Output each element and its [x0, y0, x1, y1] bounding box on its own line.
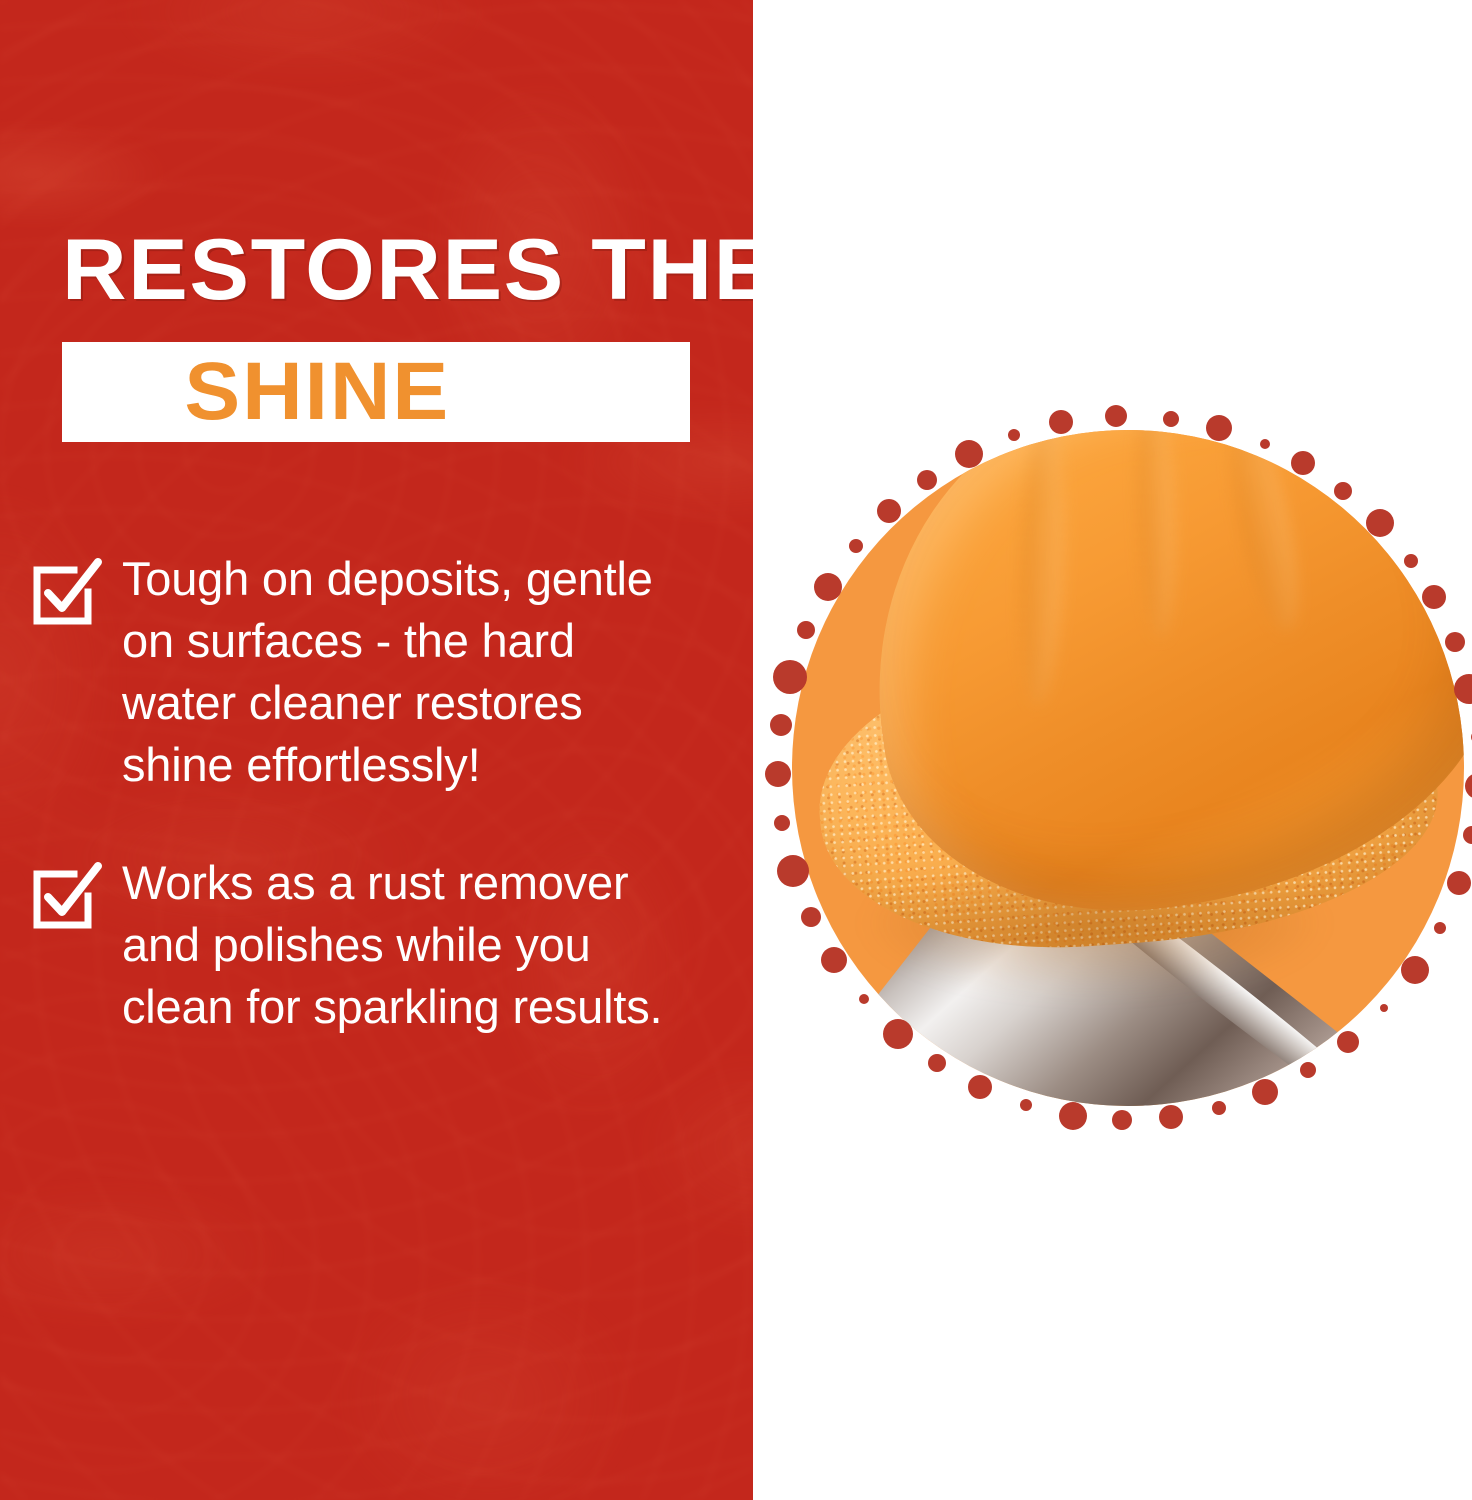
frame-dot: [1105, 405, 1127, 427]
glove-fold: [1015, 430, 1068, 707]
cleaning-scene-illustration: [792, 430, 1464, 1106]
frame-dot: [774, 815, 790, 831]
benefits-list: Tough on deposits, gentle on surfaces - …: [28, 548, 708, 1094]
frame-dot: [765, 761, 791, 787]
list-item-label: Tough on deposits, gentle on surfaces - …: [122, 548, 682, 796]
page-title: RESTORES THE: [62, 228, 728, 312]
product-photo: [792, 430, 1464, 1106]
product-photo-block: [770, 408, 1472, 1128]
list-item-label: Works as a rust remover and polishes whi…: [122, 852, 682, 1038]
checkbox-checked-icon: [28, 552, 106, 630]
left-red-panel: RESTORES THE SHINE Tough on deposits, ge…: [0, 0, 753, 1500]
glove-fold: [1216, 430, 1311, 636]
headline-highlight-word: SHINE: [184, 351, 450, 433]
frame-dot: [1465, 773, 1472, 799]
frame-dot: [1163, 411, 1179, 427]
list-item: Works as a rust remover and polishes whi…: [28, 852, 708, 1038]
headline-highlight-box: SHINE: [62, 342, 690, 442]
frame-dot: [1112, 1110, 1132, 1130]
list-item: Tough on deposits, gentle on surfaces - …: [28, 548, 708, 796]
frame-dot: [1159, 1105, 1183, 1129]
frame-dot: [770, 714, 792, 736]
glove-fold: [1133, 430, 1179, 639]
promo-banner: RESTORES THE SHINE Tough on deposits, ge…: [0, 0, 1472, 1500]
checkbox-checked-icon: [28, 856, 106, 934]
